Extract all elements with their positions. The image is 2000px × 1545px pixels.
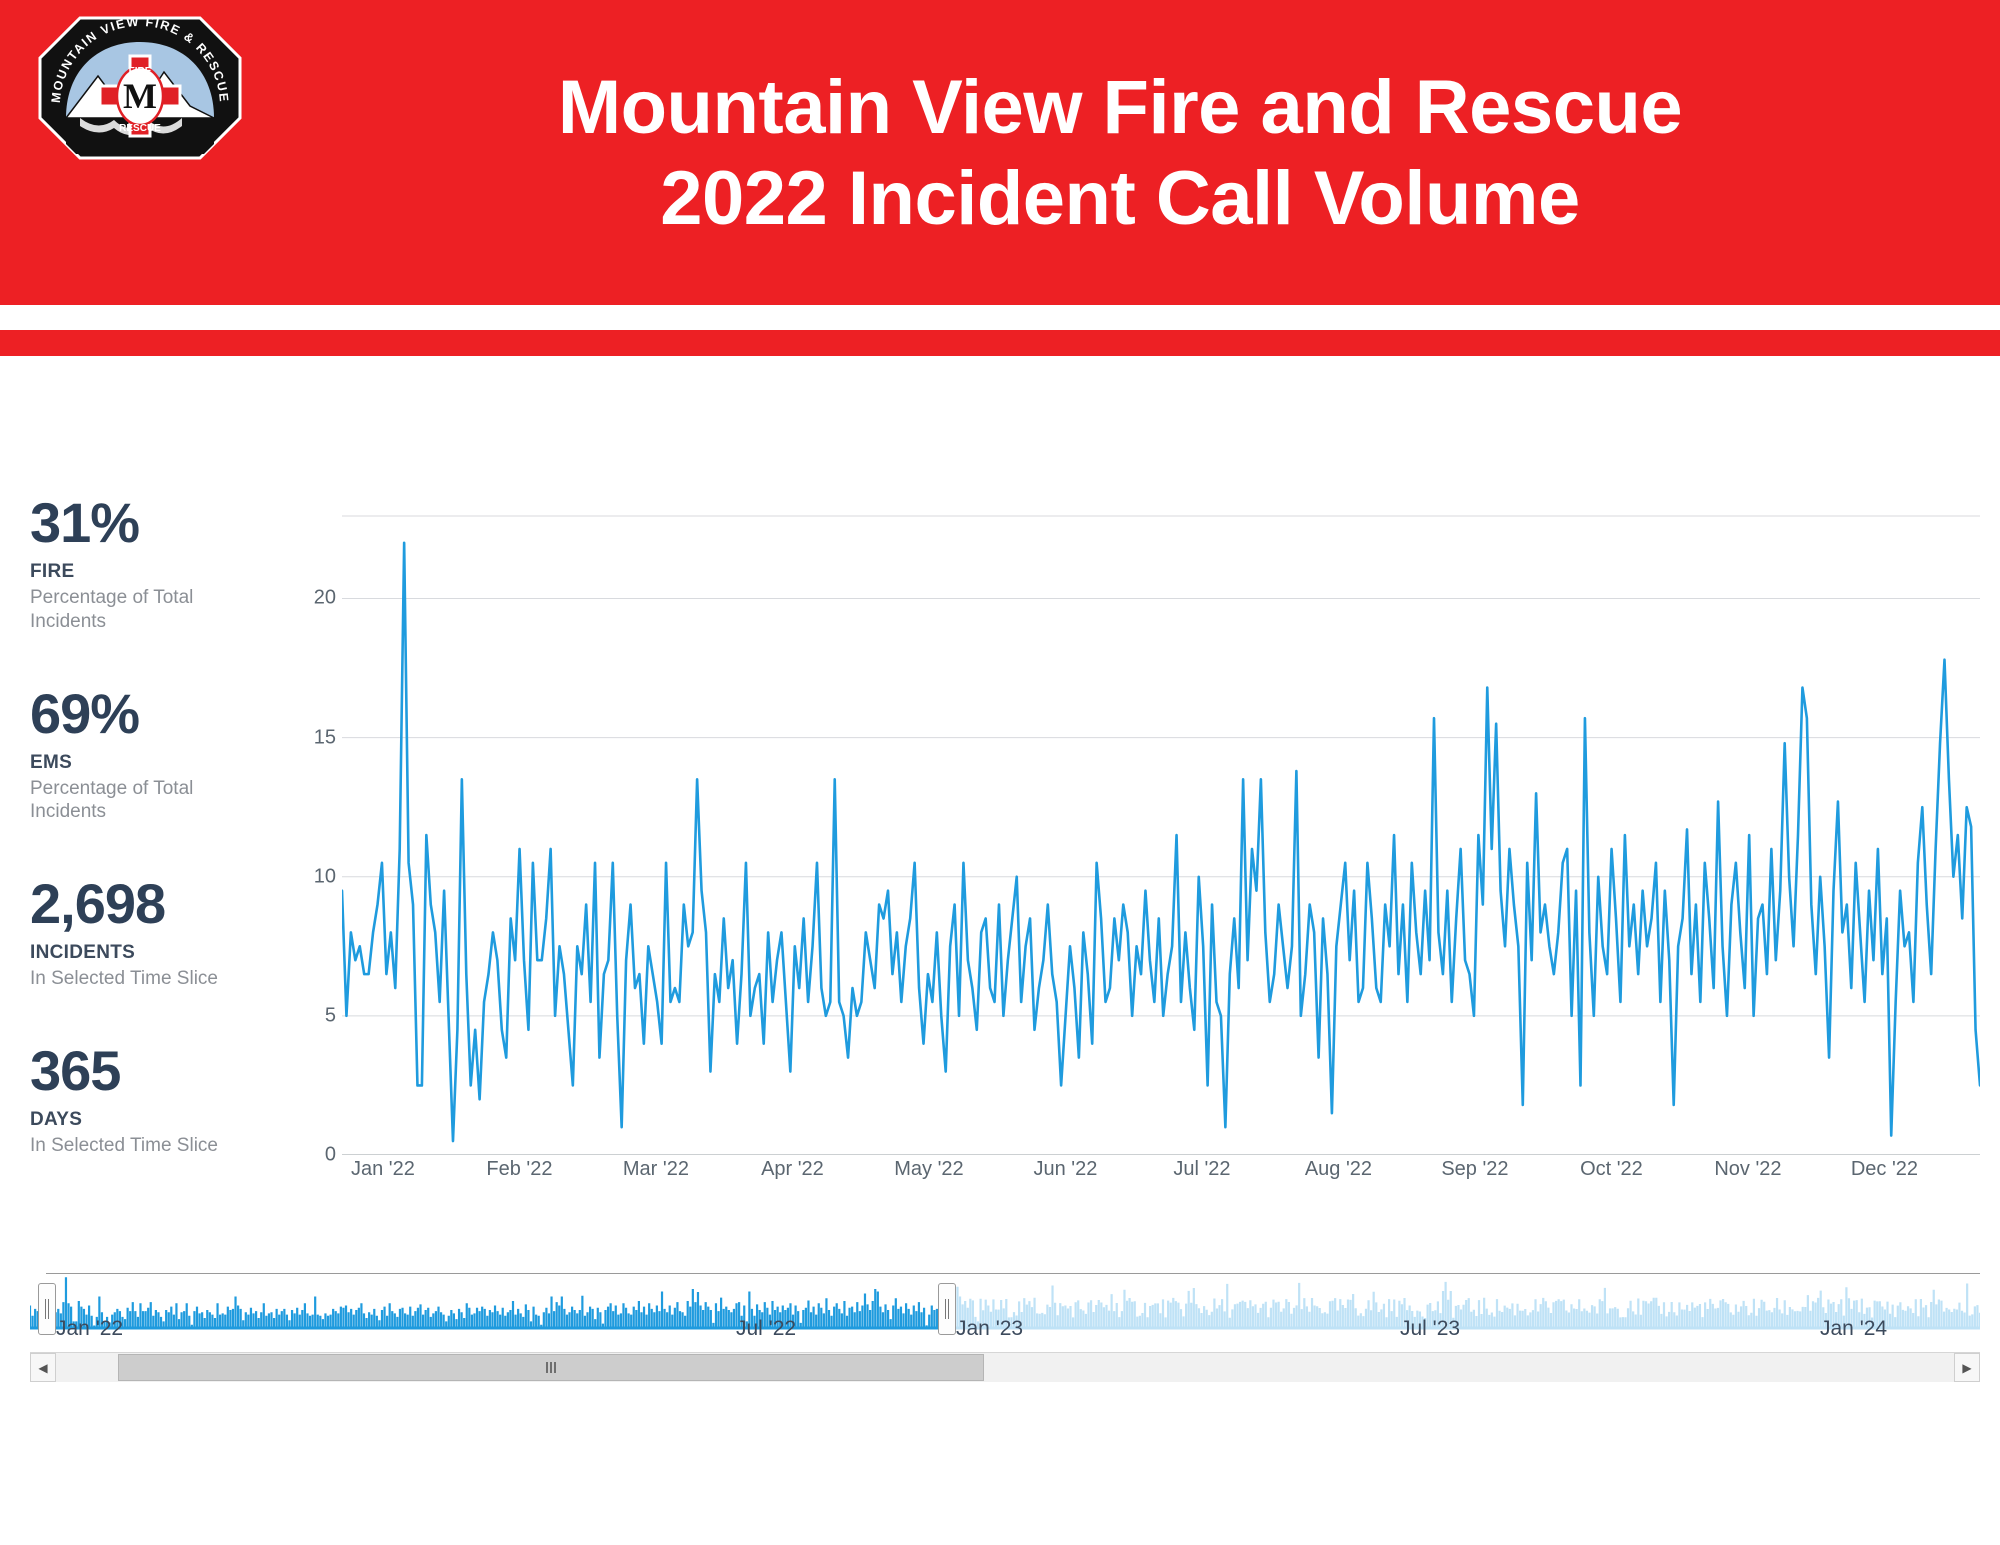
x-axis-tick-Dec22: Dec '22	[1851, 1158, 1918, 1181]
kpi-days: 365 DAYS In Selected Time Slice	[30, 1043, 275, 1158]
kpi-fire-label: FIRE	[30, 561, 275, 583]
y-axis-tick-10: 10	[314, 865, 336, 888]
logo-monogram: M	[123, 76, 157, 116]
navigator-handle-right[interactable]	[938, 1283, 956, 1335]
horizontal-scrollbar[interactable]: ◀ ▶	[30, 1352, 1980, 1382]
title-line-1: Mountain View Fire and Rescue	[558, 65, 1682, 150]
x-axis-tick-Oct22: Oct '22	[1580, 1158, 1643, 1181]
kpi-ems-value: 69%	[30, 686, 275, 742]
x-axis-labels: Jan '22Feb '22Mar '22Apr '22May '22Jun '…	[342, 1158, 1980, 1192]
y-axis-labels: 05101520	[290, 515, 336, 1155]
x-axis-tick-Feb22: Feb '22	[486, 1158, 552, 1181]
kpi-ems: 69% EMS Percentage of Total Incidents	[30, 686, 275, 825]
x-axis-tick-May22: May '22	[894, 1158, 963, 1181]
y-axis-tick-20: 20	[314, 587, 336, 610]
navigator-label-jan23: Jan '23	[956, 1317, 1023, 1341]
x-axis-tick-Jan22: Jan '22	[351, 1158, 415, 1181]
kpi-ems-label: EMS	[30, 752, 275, 774]
x-axis-tick-Mar22: Mar '22	[623, 1158, 689, 1181]
kpi-sidebar: 31% FIRE Percentage of Total Incidents 6…	[30, 495, 275, 1158]
kpi-fire-sub: Percentage of Total Incidents	[30, 586, 230, 634]
chart-plot-area[interactable]	[342, 515, 1980, 1155]
navigator-label-jul23: Jul '23	[1400, 1317, 1460, 1341]
navigator-handle-left[interactable]	[38, 1283, 56, 1335]
x-axis-tick-Jun22: Jun '22	[1034, 1158, 1098, 1181]
logo-fire-text: FIRE	[129, 66, 152, 77]
y-axis-tick-5: 5	[325, 1004, 336, 1027]
page-title: Mountain View Fire and Rescue 2022 Incid…	[300, 28, 1940, 278]
kpi-ems-sub: Percentage of Total Incidents	[30, 777, 230, 825]
header-accent-stripe	[0, 330, 2000, 356]
kpi-days-value: 365	[30, 1043, 275, 1099]
logo-rescue-text: RESCUE	[119, 123, 161, 134]
kpi-fire-value: 31%	[30, 495, 275, 551]
agency-logo: M FIRE RESCUE MOUNTAIN VIEW FIRE & RESCU…	[24, 14, 256, 204]
x-axis-tick-Apr22: Apr '22	[761, 1158, 824, 1181]
y-axis-tick-15: 15	[314, 726, 336, 749]
kpi-incidents-value: 2,698	[30, 876, 275, 932]
x-axis-tick-Sep22: Sep '22	[1441, 1158, 1508, 1181]
navigator-selection-top-left	[46, 1273, 946, 1274]
x-axis-tick-Aug22: Aug '22	[1305, 1158, 1372, 1181]
scroll-left-arrow-icon[interactable]: ◀	[30, 1353, 56, 1382]
kpi-fire: 31% FIRE Percentage of Total Incidents	[30, 495, 275, 634]
kpi-days-label: DAYS	[30, 1109, 275, 1131]
kpi-incidents: 2,698 INCIDENTS In Selected Time Slice	[30, 876, 275, 991]
x-axis-tick-Jul22: Jul '22	[1173, 1158, 1230, 1181]
navigator-selection-top-right	[946, 1273, 1980, 1274]
navigator-label-jan22: Jan '22	[56, 1317, 123, 1341]
scroll-right-arrow-icon[interactable]: ▶	[1954, 1353, 1980, 1382]
y-axis-tick-0: 0	[325, 1144, 336, 1167]
x-axis-tick-Nov22: Nov '22	[1714, 1158, 1781, 1181]
chart-line-svg	[342, 515, 1980, 1155]
kpi-days-sub: In Selected Time Slice	[30, 1134, 230, 1158]
navigator-label-jul22: Jul '22	[736, 1317, 796, 1341]
kpi-incidents-label: INCIDENTS	[30, 942, 275, 964]
scrollbar-thumb[interactable]	[118, 1354, 984, 1381]
title-line-2: 2022 Incident Call Volume	[660, 156, 1580, 241]
kpi-incidents-sub: In Selected Time Slice	[30, 967, 230, 991]
daily-incidents-line	[342, 543, 1980, 1141]
navigator-label-jan24: Jan '24	[1820, 1317, 1887, 1341]
incident-volume-chart: 05101520	[290, 515, 1980, 1155]
